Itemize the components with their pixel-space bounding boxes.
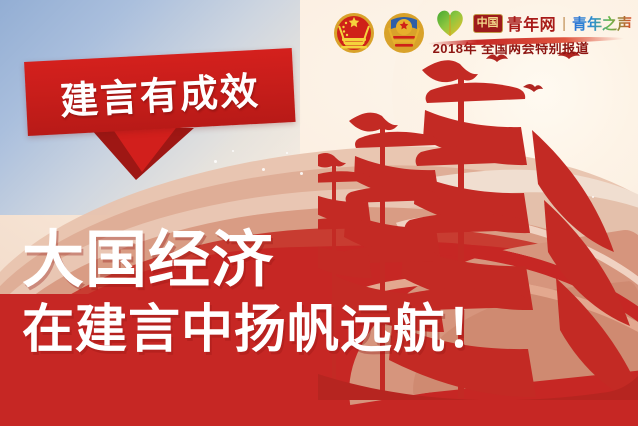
cppcc-emblem-icon (383, 12, 425, 54)
gingko-leaf-icon (433, 6, 467, 40)
headline-line-2: 在建言中扬帆远航！ (22, 298, 582, 362)
brand-primary-label: 青年网 (507, 11, 557, 35)
headline-line-1: 大国经济 (22, 224, 582, 296)
cn-chip-label: 中国 (473, 14, 503, 33)
ribbon-banner-body: 建言有成效 (24, 48, 296, 136)
poster-canvas: 中国 青年网 | 青年之声 2018年 全国两会特别报道 建言有成效 大国经济 … (0, 0, 638, 426)
ribbon-fold-light (112, 128, 176, 172)
brand-separator: | (560, 15, 568, 32)
national-emblem-of-china-icon (333, 12, 375, 54)
brand-primary-row: 中国 青年网 | 青年之声 (433, 9, 632, 37)
header-logo-row: 中国 青年网 | 青年之声 2018年 全国两会特别报道 (333, 2, 632, 64)
ribbon-banner: 建言有成效 (26, 62, 302, 180)
brand-secondary-label: 青年之声 (572, 13, 632, 34)
brand-lockup: 中国 青年网 | 青年之声 2018年 全国两会特别报道 (433, 9, 632, 57)
bird-icon (523, 84, 543, 92)
ribbon-banner-text: 建言有成效 (24, 48, 296, 136)
headline-block: 大国经济 在建言中扬帆远航！ (22, 224, 582, 362)
